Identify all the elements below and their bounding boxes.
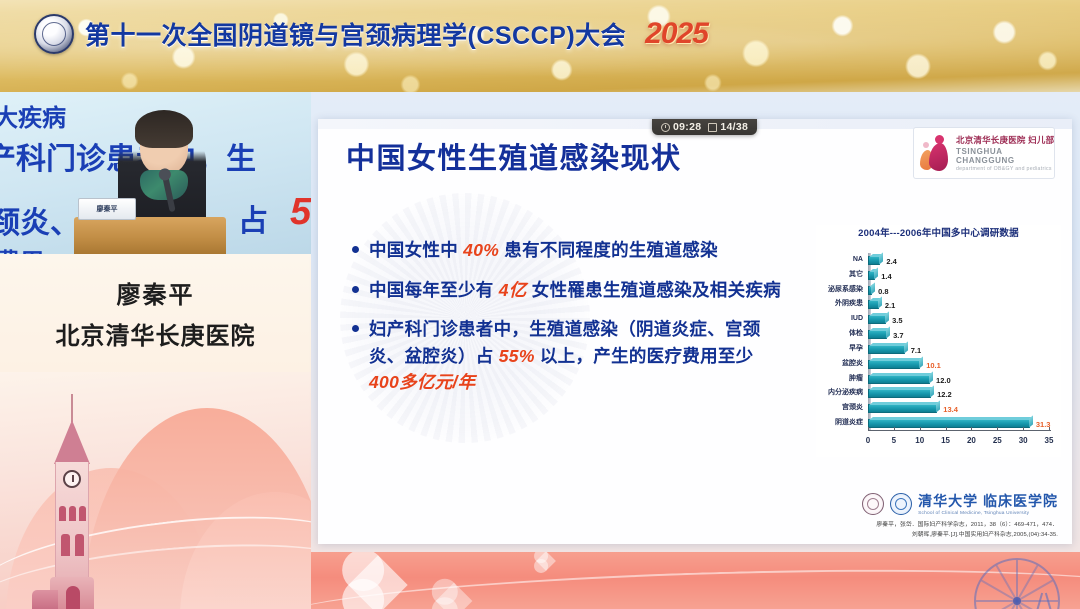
tower-window (79, 506, 86, 521)
survey-bar-chart: 2004年---2006年中国多中心调研数据 NA2.4其它1.4泌尿系感染0.… (816, 225, 1061, 457)
chart-bar-top (869, 373, 933, 376)
chart-bar: 12.0 (868, 375, 930, 384)
clock-icon (661, 123, 670, 132)
heart-icon (536, 552, 556, 571)
chart-bar-top (869, 343, 908, 346)
slide-bullet-1: 中国女性中 40% 患有不同程度的生殖道感染 (352, 237, 782, 264)
tower-clock-face-icon (63, 470, 81, 488)
chart-bar: 10.1 (868, 360, 920, 369)
decorative-illustration-bottom (311, 552, 1080, 609)
chart-x-tick-mark (997, 427, 998, 431)
chart-value-label: 0.8 (878, 286, 888, 298)
chart-value-label: 2.4 (886, 256, 896, 268)
chart-category-label: 外阴疾患 (835, 298, 863, 310)
chart-x-tick-mark (1023, 427, 1024, 431)
chart-category-label: IUD (851, 313, 863, 325)
citation-university-block: 清华大学 临床医学院 School of Clinical Medicine, … (918, 491, 1058, 516)
chart-value-label: 3.7 (893, 330, 903, 342)
chart-bar-row: 宫颈炎13.4 (868, 403, 937, 414)
chart-value-label: 1.4 (881, 271, 891, 283)
hud-time: 09:28 (661, 121, 701, 133)
chart-bar: 2.1 (868, 300, 879, 309)
chart-bar-top (869, 284, 875, 287)
chart-x-tick-mark (946, 427, 947, 431)
chart-bar: 12.2 (868, 389, 931, 398)
bullet-text: 以上，产生的医疗费用至少 (535, 346, 754, 366)
podium-nameplate: 廖秦平 (78, 198, 136, 220)
speaker-name: 廖秦平 (117, 275, 195, 310)
chart-x-tick-label: 10 (915, 436, 924, 445)
conference-year: 2025 (645, 17, 708, 51)
bullet-text: 女性罹患生殖道感染及相关疾病 (527, 280, 781, 300)
chart-value-label: 13.4 (943, 404, 958, 416)
chart-bar-row: 早孕7.1 (868, 344, 905, 355)
chart-bars-container: NA2.4其它1.4泌尿系感染0.8外阴疾患2.1IUD3.5体检3.7早孕7.… (868, 253, 1049, 431)
citation-logos: 清华大学 临床医学院 School of Clinical Medicine, … (862, 491, 1058, 516)
chart-x-tick-label: 0 (866, 436, 870, 445)
chart-title: 2004年---2006年中国多中心调研数据 (816, 225, 1061, 239)
chart-category-label: 其它 (849, 269, 863, 281)
chart-bar: 3.7 (868, 330, 887, 339)
tower-arch (66, 586, 80, 609)
chart-bar-row: 其它1.4 (868, 270, 875, 281)
tower-spire (71, 394, 73, 422)
chart-x-tick-mark (868, 427, 869, 431)
chart-bar-row: 外阴疾患2.1 (868, 299, 879, 310)
projection-text-line1: 大疾病 (0, 98, 66, 133)
tower-window (69, 506, 76, 521)
citation-university-en: School of Clinical Medicine, Tsinghua Un… (918, 511, 1058, 516)
chart-x-tick-label: 15 (941, 436, 950, 445)
chart-category-label: 体检 (849, 328, 863, 340)
citation-university-cn: 清华大学 临床医学院 (918, 491, 1058, 511)
citation-reference-1: 廖秦平，张岱．国际妇产科学杂志，2011，38（6）：469-471，474． (876, 519, 1058, 528)
slide-title: 中国女性生殖道感染现状 (346, 135, 682, 177)
chart-bar-row: 阴道炎症31.3 (868, 418, 1030, 429)
chart-x-tick-label: 30 (1019, 436, 1028, 445)
chart-x-tick-mark (971, 427, 972, 431)
projection-text-line3: 颈炎、 (0, 198, 80, 242)
chart-x-tick-label: 20 (967, 436, 976, 445)
tower-window (75, 534, 84, 556)
chart-x-tick-mark (894, 427, 895, 431)
conference-banner: 第十一次全国阴道镜与宫颈病理学(CSCCP)大会 2025 (0, 0, 1080, 92)
bullet-text: 中国女性中 (369, 240, 463, 260)
chart-bar-top (869, 269, 878, 272)
chart-bar: 7.1 (868, 345, 905, 354)
video-player-stage: 第十一次全国阴道镜与宫颈病理学(CSCCP)大会 2025 大疾病 产科门诊患者… (0, 0, 1080, 609)
decorative-illustration-left (0, 372, 311, 609)
chart-bar-top (869, 387, 934, 390)
bullet-highlight-value: 55% (499, 346, 535, 366)
chart-value-label: 2.1 (885, 300, 895, 312)
logo-name-en: TSINGHUA CHANGGUNG (956, 147, 1054, 165)
chart-bar-top (869, 254, 883, 257)
chart-category-label: 内分泌疾病 (828, 387, 863, 399)
chart-x-tick-label: 5 (892, 436, 896, 445)
chart-bar-top (869, 328, 890, 331)
bullet-highlight-value: 4亿 (499, 280, 527, 300)
projection-text-line5: 5 (290, 191, 311, 234)
chart-value-label: 3.5 (892, 315, 902, 327)
bullet-text: 中国每年至少有 (369, 280, 499, 300)
chart-bar-top (869, 358, 923, 361)
chart-category-label: 宫颈炎 (842, 402, 863, 414)
tower-wing (32, 590, 58, 609)
chart-x-tick-label: 25 (993, 436, 1002, 445)
hospital-seal-icon (890, 493, 912, 515)
citation-reference-2: 刘朝晖,廖秦平.[J].中国实用妇产科杂志,2005,(04):34-35. (912, 529, 1058, 538)
lotus-figure-icon (920, 135, 950, 171)
chart-value-label: 10.1 (926, 360, 941, 372)
page-icon (708, 123, 717, 132)
banner-content: 第十一次全国阴道镜与宫颈病理学(CSCCP)大会 2025 (34, 14, 708, 54)
slide-bullet-list: 中国女性中 40% 患有不同程度的生殖道感染中国每年至少有 4亿 女性罹患生殖道… (352, 237, 782, 396)
chart-category-label: 早孕 (849, 343, 863, 355)
chart-plot-area: NA2.4其它1.4泌尿系感染0.8外阴疾患2.1IUD3.5体检3.7早孕7.… (816, 247, 1061, 457)
slide-bullet-2: 中国每年至少有 4亿 女性罹患生殖道感染及相关疾病 (352, 277, 782, 304)
logo-petal (929, 143, 948, 171)
chart-bar-row: 内分泌疾病12.2 (868, 388, 931, 399)
chart-bar-row: IUD3.5 (868, 314, 886, 325)
hud-page: 14/38 (708, 121, 748, 133)
podium (74, 217, 226, 254)
logo-dot (923, 142, 929, 148)
chart-x-tick-mark (1049, 427, 1050, 431)
tower-window (61, 534, 70, 556)
logo-text-block: 北京清华长庚医院 妇儿部 TSINGHUA CHANGGUNG departme… (956, 134, 1054, 172)
projection-text-line6: 费用 (0, 242, 44, 254)
chart-value-label: 12.0 (936, 375, 951, 387)
chart-bar: 0.8 (868, 286, 872, 295)
hud-page-text: 14/38 (720, 121, 748, 133)
chart-category-label: NA (853, 254, 863, 266)
conference-title: 第十一次全国阴道镜与宫颈病理学(CSCCP)大会 (85, 16, 626, 52)
presentation-slide[interactable]: 中国女性生殖道感染现状 北京清华长庚医院 妇儿部 TSINGHUA CHANGG… (318, 119, 1072, 544)
wheel-hub (1013, 597, 1021, 605)
chart-bar-top (869, 313, 889, 316)
speaker-video-feed[interactable]: 大疾病 产科门诊患者中，生 颈炎、 占 5 费用 廖秦平 (0, 92, 311, 254)
logo-name-cn: 北京清华长庚医院 妇儿部 (956, 134, 1054, 146)
chart-category-label: 泌尿系感染 (828, 284, 863, 296)
clock-tower-illustration (44, 394, 100, 609)
chart-bar-top (869, 402, 940, 405)
chart-bar-row: 泌尿系感染0.8 (868, 285, 872, 296)
chart-category-label: 肿瘤 (849, 373, 863, 385)
chart-bar: 31.3 (868, 419, 1030, 428)
swoosh-line (311, 559, 1080, 609)
chart-bar: 2.4 (868, 256, 880, 265)
chart-bar: 13.4 (868, 404, 937, 413)
speaker-organization: 北京清华长庚医院 (56, 316, 256, 351)
chart-bar-top (869, 417, 1033, 420)
logo-department: department of OB&GY and pediatrics (956, 166, 1054, 172)
chart-bar-row: 肿瘤12.0 (868, 374, 930, 385)
speaker-hair (135, 110, 193, 148)
slide-bullet-3: 妇产科门诊患者中，生殖道感染（阴道炎症、宫颈炎、盆腔炎）占 55% 以上，产生的… (352, 316, 782, 396)
hospital-logo: 北京清华长庚医院 妇儿部 TSINGHUA CHANGGUNG departme… (914, 128, 1054, 178)
csccp-emblem-icon (34, 14, 74, 54)
chart-bar-row: 盆腔炎10.1 (868, 359, 920, 370)
chart-category-label: 盆腔炎 (842, 358, 863, 370)
projection-text-line4: 占 (238, 196, 268, 240)
chart-value-label: 7.1 (911, 345, 921, 357)
tower-window (59, 506, 66, 521)
chart-bar-row: 体检3.7 (868, 329, 887, 340)
bullet-highlight-value: 400多亿元/年 (369, 372, 475, 392)
chart-x-tick-mark (920, 427, 921, 431)
chart-bar: 3.5 (868, 315, 886, 324)
hud-time-text: 09:28 (673, 121, 701, 133)
chart-bar-top (869, 298, 882, 301)
chart-bar: 1.4 (868, 271, 875, 280)
chart-category-label: 阴道炎症 (835, 417, 863, 429)
chart-bar-row: NA2.4 (868, 255, 880, 266)
tower-roof (54, 420, 90, 464)
playback-status-hud: 09:28 14/38 (652, 119, 757, 135)
bullet-text: 患有不同程度的生殖道感染 (499, 240, 718, 260)
tsinghua-seal-icon (862, 493, 884, 515)
bullet-highlight-value: 40% (463, 240, 499, 260)
speaker-info-card: 廖秦平 北京清华长庚医院 (0, 254, 311, 372)
slide-citation: 清华大学 临床医学院 School of Clinical Medicine, … (810, 491, 1058, 538)
chart-x-tick-label: 35 (1045, 436, 1054, 445)
